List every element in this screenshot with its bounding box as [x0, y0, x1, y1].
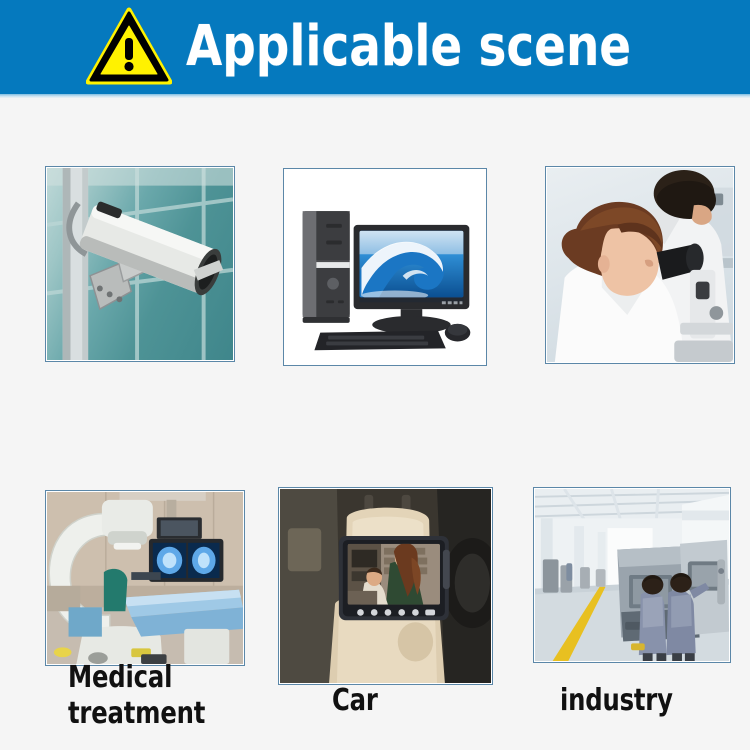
scene-thumbnail-computer[interactable]	[283, 168, 487, 366]
scene-label-industry: industry	[560, 683, 673, 719]
scene-thumbnail-monitor[interactable]	[45, 166, 235, 362]
scene-thumbnail-car[interactable]	[278, 487, 493, 685]
factory-floor-illustration	[535, 489, 729, 661]
scene-thumbnail-microscope[interactable]	[545, 166, 735, 364]
scene-thumbnail-medical[interactable]	[45, 490, 245, 666]
scene-thumbnail-industry[interactable]	[533, 487, 731, 663]
desktop-computer-illustration	[285, 170, 485, 364]
microscope-lab-illustration	[547, 168, 733, 362]
warning-triangle-icon	[86, 7, 172, 87]
page-header: Applicable scene	[0, 0, 750, 94]
operating-room-illustration	[47, 492, 243, 664]
scene-label-medical: Medical treatment	[68, 660, 205, 732]
car-headrest-monitor-illustration	[280, 489, 491, 683]
scene-label-car: Car	[332, 683, 378, 719]
scene-grid: monitor	[0, 98, 750, 750]
page-title: Applicable scene	[186, 19, 631, 75]
cctv-camera-illustration	[47, 168, 233, 360]
